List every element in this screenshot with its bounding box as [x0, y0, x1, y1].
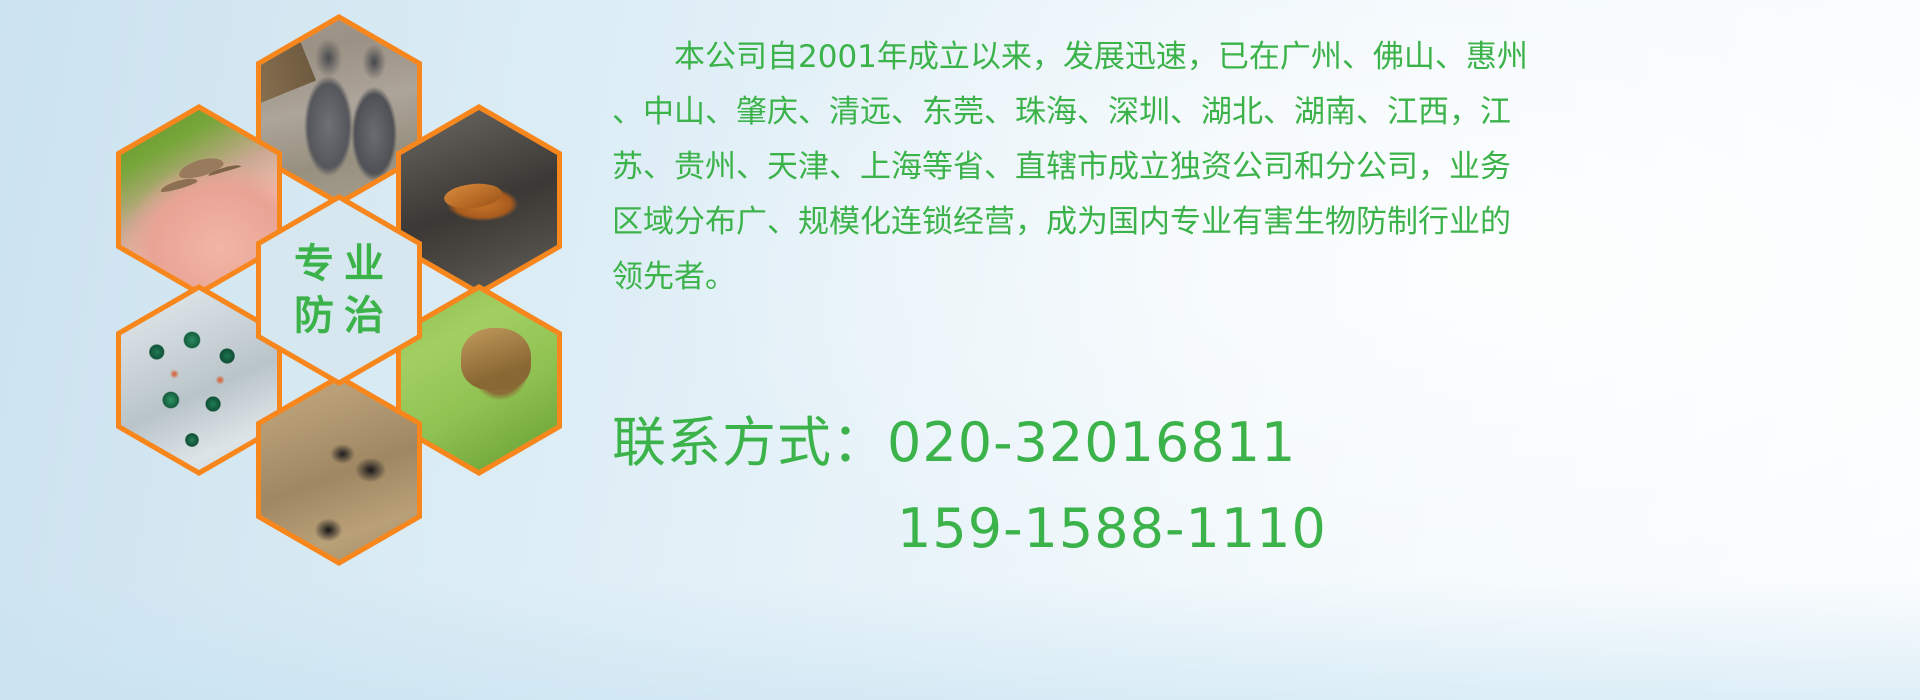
contact-block: 联系方式：020-32016811 159-1588-1110: [612, 400, 1902, 572]
slogan-block: 专业 防治: [261, 200, 417, 380]
promo-banner: 专业 防治 本公司自2001年成立以来，发展迅速，已在广州、佛山、惠州 、中山、…: [0, 0, 1920, 700]
slogan-line-1: 专业: [284, 244, 394, 284]
cockroach-photo: [401, 110, 557, 290]
hex-inner: [401, 290, 557, 470]
description-line: 、中山、肇庆、清远、东莞、珠海、深圳、湖北、湖南、江西，江: [612, 85, 1902, 140]
company-description: 本公司自2001年成立以来，发展迅速，已在广州、佛山、惠州 、中山、肇庆、清远、…: [612, 30, 1902, 305]
flies-photo: [121, 290, 277, 470]
stinkbug-photo: [401, 290, 557, 470]
hex-inner: 专业 防治: [261, 200, 417, 380]
honeycomb-cluster: 专业 防治: [0, 0, 600, 700]
rodent-photo: [261, 20, 417, 200]
description-line: 苏、贵州、天津、上海等省、直辖市成立独资公司和分公司，业务: [612, 140, 1902, 195]
description-line: 领先者。: [612, 250, 1902, 305]
hex-inner: [401, 110, 557, 290]
slogan-line-2: 防治: [284, 296, 394, 336]
contact-phone-secondary[interactable]: 159-1588-1110: [612, 486, 1902, 572]
hex-inner: [261, 380, 417, 560]
hex-inner: [261, 20, 417, 200]
contact-phone-primary[interactable]: 联系方式：020-32016811: [612, 400, 1902, 486]
description-line: 区域分布广、规模化连锁经营，成为国内专业有害生物防制行业的: [612, 195, 1902, 250]
ant-photo: [261, 380, 417, 560]
hex-inner: [121, 110, 277, 290]
mosquito-photo: [121, 110, 277, 290]
description-line: 本公司自2001年成立以来，发展迅速，已在广州、佛山、惠州: [612, 30, 1902, 85]
hex-inner: [121, 290, 277, 470]
